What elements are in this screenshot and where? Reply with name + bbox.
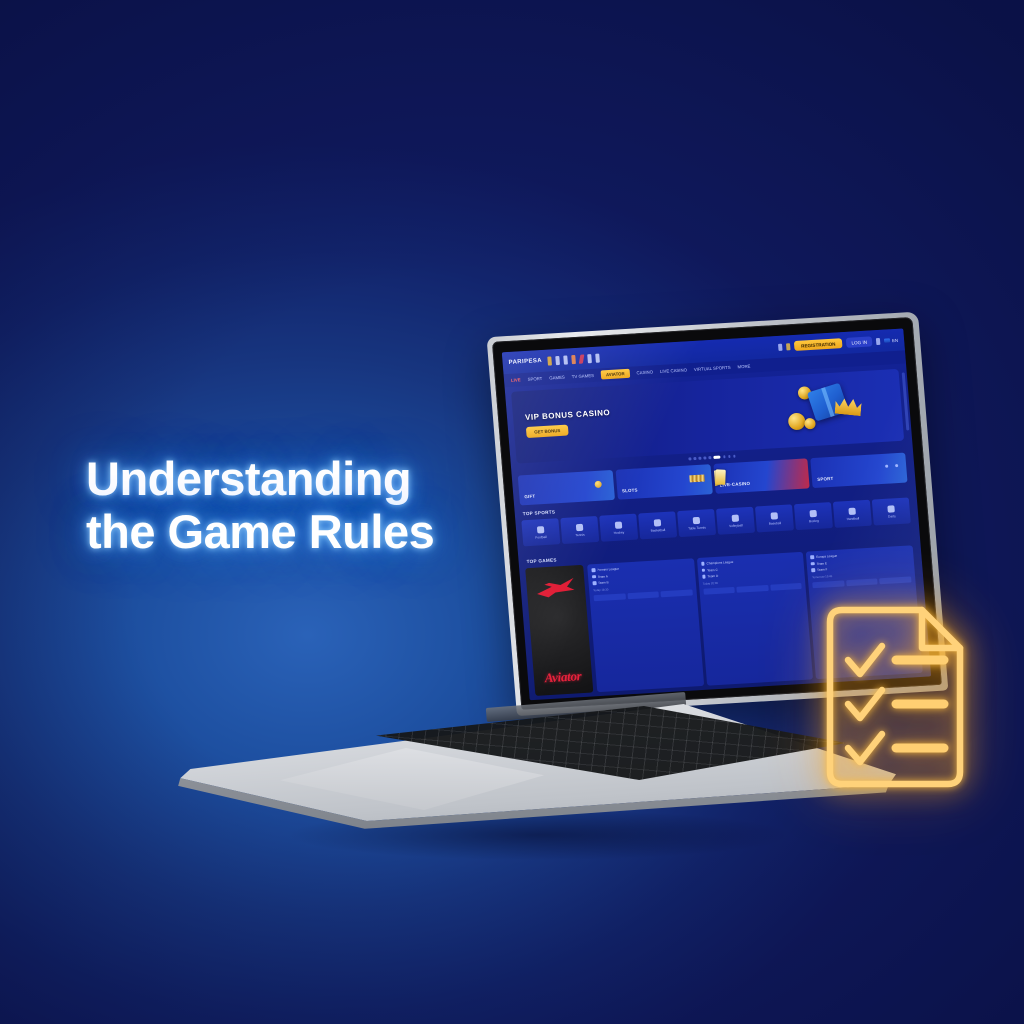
match-team-away: Team B [598, 580, 609, 585]
gamepad-icon [881, 457, 901, 477]
handball-icon [848, 507, 856, 514]
odds-button[interactable] [703, 586, 735, 594]
carousel-dot[interactable] [693, 457, 696, 460]
league-icon [701, 562, 705, 566]
team-icon [701, 568, 705, 572]
carousel-dot[interactable] [698, 457, 701, 460]
flame-icon[interactable] [572, 354, 577, 363]
odds-button[interactable] [627, 591, 659, 599]
match-team-home: Team E [816, 561, 827, 566]
laptop-mockup: PARIPESA REG [0, 0, 1024, 1024]
match-card[interactable]: Premier League Team A Team B Today 18:30 [587, 558, 704, 692]
category-label: SLOTS [622, 488, 638, 494]
document-checklist-icon [826, 606, 964, 788]
flag-icon [884, 338, 890, 342]
language-label: EN [892, 337, 899, 342]
page-scrollbar[interactable] [902, 372, 910, 430]
basketball-icon [654, 519, 662, 526]
login-button[interactable]: LOG IN [846, 336, 872, 347]
team-icon [811, 568, 815, 572]
nav-item-tv-games[interactable]: TV GAMES [572, 373, 595, 379]
sport-label: Baseball [769, 521, 782, 526]
tennis-icon [576, 523, 584, 530]
settings-icon[interactable] [876, 337, 881, 344]
egg-icon [589, 474, 609, 494]
slot-machine-icon [686, 468, 706, 488]
match-team-away: Team F [817, 567, 828, 572]
gold-coin-icon [804, 418, 816, 430]
aviator-logo-text: Aviator [533, 668, 592, 687]
bonus-icon[interactable] [786, 343, 791, 350]
category-label: SPORT [817, 476, 834, 482]
medal-icon[interactable] [564, 355, 569, 364]
match-team-home: Team C [707, 567, 718, 572]
playing-cards-icon [713, 463, 805, 494]
match-league: Premier League [597, 567, 619, 572]
category-row: GIFT SLOTS LIVE-CASINO SPORT [518, 453, 908, 506]
odds-button[interactable] [594, 593, 626, 601]
carousel-dot[interactable] [688, 457, 691, 460]
category-card-live-casino[interactable]: LIVE-CASINO [713, 458, 810, 494]
odds-button[interactable] [770, 582, 802, 590]
gift-icon[interactable] [548, 356, 553, 365]
odds-button[interactable] [813, 580, 845, 588]
hockey-icon [615, 521, 623, 528]
sport-label: Boxing [809, 518, 819, 523]
section-header-games: TOP GAMES [526, 557, 556, 564]
carousel-dot[interactable] [733, 455, 736, 458]
match-team-home: Team A [597, 574, 608, 579]
category-card-gift[interactable]: GIFT [518, 470, 615, 506]
odds-button[interactable] [737, 584, 769, 592]
category-label: GIFT [524, 494, 535, 500]
sport-label: Hockey [613, 530, 624, 535]
carousel-dot[interactable] [723, 455, 726, 458]
info-icon[interactable] [778, 343, 783, 350]
game-card-aviator[interactable]: Aviator [525, 565, 593, 696]
sport-tile-football[interactable]: Football [521, 518, 560, 546]
nav-item-live-casino[interactable]: LIVE CASINO [660, 367, 687, 374]
sport-tile-tennis[interactable]: Tennis [560, 516, 599, 544]
bolt-icon[interactable] [579, 354, 585, 363]
team-icon [811, 562, 815, 566]
sport-label: Basketball [650, 527, 665, 532]
cup-icon[interactable] [588, 354, 593, 363]
team-icon [592, 581, 596, 585]
table-tennis-icon [693, 516, 701, 523]
team-icon [702, 575, 706, 579]
sport-tile-baseball[interactable]: Baseball [755, 504, 794, 532]
hero-artwork [781, 374, 882, 443]
register-button[interactable]: REGISTRATION [794, 338, 843, 351]
volleyball-icon [732, 514, 740, 521]
boxing-icon [810, 509, 818, 516]
section-header-sports: TOP SPORTS [523, 509, 556, 516]
checklist-svg [826, 606, 964, 788]
bar-icon[interactable] [596, 353, 601, 362]
document-outline [830, 610, 960, 784]
football-icon [537, 526, 545, 533]
sport-label: Handball [846, 516, 859, 521]
odds-button[interactable] [880, 576, 912, 584]
check-icon [848, 646, 882, 674]
nav-item-virtual-sports[interactable]: VIRTUAL SPORTS [694, 365, 731, 372]
match-league: Europa League [816, 554, 837, 559]
carousel-dot[interactable] [708, 456, 711, 459]
match-card[interactable]: Champions League Team C Team D Today 20:… [697, 552, 814, 686]
sport-label: Football [535, 534, 547, 539]
check-icon [848, 734, 882, 762]
nav-item-live[interactable]: LIVE [511, 377, 521, 383]
match-team-away: Team D [707, 574, 718, 579]
odds-button[interactable] [846, 578, 878, 586]
category-card-sport[interactable]: SPORT [811, 453, 908, 489]
sport-tile-table-tennis[interactable]: Table Tennis [677, 509, 716, 537]
airplane-icon [535, 577, 577, 599]
sport-tile-darts[interactable]: Darts [872, 497, 911, 525]
sport-label: Volleyball [729, 523, 743, 528]
nav-item-casino[interactable]: CASINO [636, 369, 653, 375]
trophy-icon[interactable] [556, 355, 561, 364]
nav-item-aviator[interactable]: AVIATOR [601, 369, 630, 380]
laptop-base [176, 704, 896, 834]
darts-icon [887, 505, 895, 512]
site-logo[interactable]: PARIPESA [508, 358, 542, 366]
league-icon [810, 555, 814, 559]
sports-row: Football Tennis Hockey Basketball Table … [521, 497, 910, 546]
carousel-dot-active[interactable] [713, 456, 720, 459]
category-card-slots[interactable]: SLOTS [615, 464, 712, 500]
topbar-icon-group [548, 353, 601, 365]
check-icon [848, 690, 882, 718]
sport-tile-basketball[interactable]: Basketball [638, 511, 677, 539]
team-icon [592, 575, 596, 579]
sport-label: Tennis [575, 532, 585, 537]
league-icon [591, 568, 595, 572]
sport-label: Table Tennis [688, 525, 706, 530]
odds-button[interactable] [661, 589, 693, 597]
nav-item-games[interactable]: GAMES [549, 375, 565, 381]
sport-label: Darts [888, 514, 896, 518]
gold-coin-icon [788, 412, 806, 430]
sport-tile-boxing[interactable]: Boxing [794, 502, 833, 530]
language-selector[interactable]: EN [884, 337, 898, 343]
sport-tile-hockey[interactable]: Hockey [599, 514, 638, 542]
nav-item-sport[interactable]: SPORT [527, 376, 542, 382]
baseball-icon [771, 512, 779, 519]
carousel-indicator[interactable] [688, 455, 735, 460]
nav-item-more[interactable]: MORE [737, 364, 750, 370]
topbar-actions: REGISTRATION LOG IN EN [778, 335, 899, 352]
sport-tile-handball[interactable]: Handball [833, 500, 872, 528]
match-league: Champions League [706, 560, 733, 566]
carousel-dot[interactable] [703, 456, 706, 459]
carousel-dot[interactable] [728, 455, 731, 458]
hero-title: VIP BONUS CASINO [525, 408, 611, 422]
hero-cta-button[interactable]: GET BONUS [526, 425, 569, 438]
sport-tile-volleyball[interactable]: Volleyball [716, 507, 755, 535]
